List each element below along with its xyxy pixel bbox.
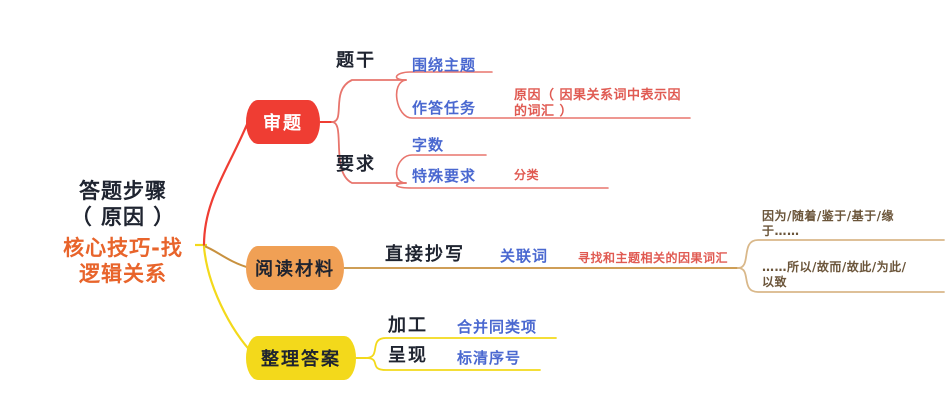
- node-biaoqing-xuhao[interactable]: 标清序号: [457, 349, 521, 368]
- leaf-yinguo-effect-words[interactable]: ……所以/故而/故此/为此/ 以致: [762, 260, 942, 290]
- link-shenti-to-timu: [332, 80, 406, 122]
- root-subtitle-line2: 逻辑关系: [79, 262, 167, 286]
- node-teshu-yaoqiu[interactable]: 特殊要求: [412, 167, 476, 186]
- node-chengxian[interactable]: 呈现: [388, 345, 428, 368]
- node-zuoda-renwu[interactable]: 作答任务: [412, 99, 476, 118]
- node-hebing-tongleixiang[interactable]: 合并同类项: [457, 318, 537, 337]
- node-yaoqiu[interactable]: 要求: [336, 154, 376, 177]
- note-fenlei[interactable]: 分类: [514, 168, 539, 183]
- node-guanlianci[interactable]: 关联词: [500, 247, 548, 266]
- node-jiagong[interactable]: 加工: [388, 315, 428, 338]
- node-zhijie-chaoxie[interactable]: 直接抄写: [385, 244, 465, 267]
- root-title: 答题步骤（ 原因 ）: [38, 178, 208, 231]
- root-title-line1: 答题步骤: [79, 179, 167, 203]
- branch-node-yuedu[interactable]: 阅读材料: [246, 246, 344, 290]
- root-title-line2: （ 原因 ）: [71, 205, 176, 229]
- mindmap-canvas: 答题步骤（ 原因 ） 核心技巧-找逻辑关系 审题 阅读材料 整理答案 题干 要求…: [0, 0, 950, 411]
- leaf-yinguo-cause-words[interactable]: 因为/随着/鉴于/基于/缘 于……: [762, 209, 942, 239]
- branch-node-zhengli-label: 整理答案: [261, 345, 341, 371]
- branch-node-shenti-label: 审题: [263, 109, 303, 135]
- node-weizhu-zhuti[interactable]: 围绕主题: [412, 56, 476, 75]
- root-subtitle: 核心技巧-找逻辑关系: [38, 235, 208, 288]
- node-timu[interactable]: 题干: [336, 50, 376, 73]
- link-root-to-shenti: [204, 122, 258, 245]
- branch-node-zhengli[interactable]: 整理答案: [246, 336, 356, 380]
- branch-node-yuedu-label: 阅读材料: [255, 255, 335, 281]
- root-subtitle-line1: 核心技巧-找: [63, 236, 183, 260]
- branch-node-shenti[interactable]: 审题: [246, 100, 320, 144]
- note-xunzhao-yinguo[interactable]: 寻找和主题相关的因果词汇: [578, 251, 728, 266]
- note-yuanyin[interactable]: 原因（ 因果关系词中表示因 的词汇 ）: [514, 88, 690, 121]
- node-zishu[interactable]: 字数: [412, 136, 444, 155]
